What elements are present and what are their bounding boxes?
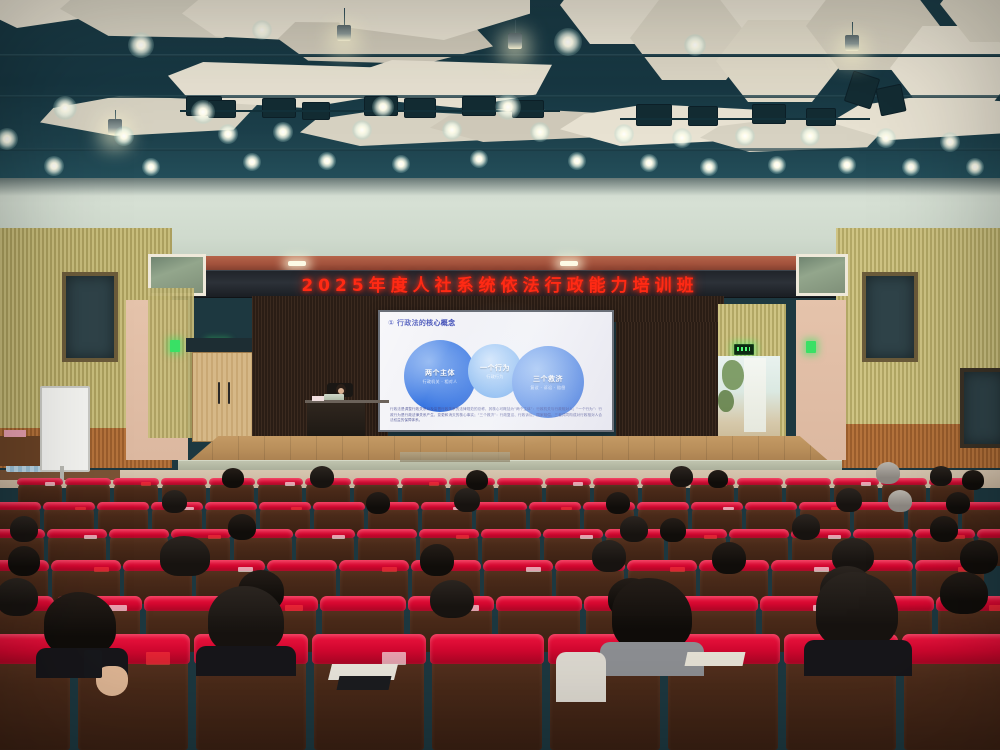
- ceiling: [0, 0, 1000, 185]
- exit-pictogram-left: [170, 340, 180, 352]
- ceiling-spotlight: [530, 122, 550, 142]
- attendee-head: [960, 540, 998, 574]
- left-door-header: [186, 338, 262, 352]
- lighting-truss-bar: [620, 118, 870, 120]
- ceiling-spotlight: [684, 34, 706, 56]
- whiteboard: [40, 386, 90, 472]
- ceiling-spotlight: [568, 152, 586, 170]
- attendee-head: [888, 490, 912, 512]
- ceiling-spotlight: [495, 94, 521, 120]
- stage-light-fixture: [688, 106, 718, 126]
- exit-sign-right-stage: [734, 344, 754, 355]
- ceiling-spotlight: [252, 20, 272, 40]
- cornice-downlight: [560, 261, 578, 266]
- attendee-head: [708, 470, 728, 488]
- attendee-head: [940, 572, 988, 614]
- ceiling-spotlight: [838, 156, 856, 174]
- lectern-paper: [312, 396, 324, 401]
- left-acoustic-panel: [62, 272, 118, 362]
- attendee-head: [876, 462, 900, 484]
- projection-screen: ① 行政法的核心概念 两个主体 行政机关 · 相对人 一个行为 行政行为 三个救…: [378, 310, 614, 432]
- ceiling-spotlight: [940, 132, 960, 152]
- ceiling-spotlight: [902, 158, 920, 176]
- doorway-daylight-pane: [744, 358, 766, 432]
- attendee-head: [670, 466, 693, 487]
- ceiling-spotlight: [614, 124, 634, 144]
- attendee-laptop: [337, 676, 392, 690]
- attendee-head: [466, 470, 488, 490]
- right-dark-recess: [960, 368, 1000, 448]
- attendee-body: [804, 640, 912, 676]
- attendee-body: [556, 652, 606, 702]
- ceiling-spotlight: [372, 96, 394, 118]
- ceiling-spotlight: [442, 120, 462, 140]
- ceiling-spotlight: [128, 32, 154, 58]
- ceiling-spotlight: [53, 96, 77, 120]
- attendee-head: [792, 514, 820, 540]
- folding-desk-surface: [685, 652, 746, 666]
- auditorium-photo: 2025年度人社系统依法行政能力培训班 ① 行政法的核心概念 两个主体 行政机关…: [0, 0, 1000, 750]
- stage-light-fixture: [636, 104, 672, 126]
- attendee-head: [44, 592, 116, 656]
- ceiling-spotlight: [318, 152, 336, 170]
- attendee-head: [366, 492, 390, 514]
- stage-light-fixture: [462, 96, 496, 116]
- attendee-head: [660, 518, 686, 542]
- ceiling-spotlight: [0, 128, 18, 150]
- seat[interactable]: [904, 650, 1000, 750]
- ceiling-spotlight: [470, 150, 488, 168]
- attendee-body: [196, 646, 296, 676]
- ceiling-spotlight: [352, 120, 372, 140]
- attendee-head: [592, 540, 626, 572]
- ceiling-spotlight: [700, 158, 718, 176]
- ceiling-beam: [0, 148, 1000, 151]
- attendee-head: [222, 468, 244, 488]
- attendee-head: [0, 578, 38, 616]
- lectern: [307, 402, 365, 436]
- ceiling-spotlight: [142, 158, 160, 176]
- ceiling-spotlight: [114, 126, 134, 146]
- ceiling-spotlight: [554, 28, 582, 56]
- seat[interactable]: [432, 650, 542, 750]
- ceiling-spotlight: [768, 156, 786, 174]
- ceiling-spotlight: [800, 126, 820, 146]
- attendee-head: [8, 546, 40, 576]
- ceiling-spotlight: [735, 126, 755, 146]
- attendee-head: [836, 488, 862, 512]
- left-exit-door[interactable]: [192, 352, 256, 442]
- cornice-downlight: [288, 261, 306, 266]
- ceiling-spotlight: [392, 155, 410, 173]
- ceiling-beam: [0, 54, 1000, 57]
- stage-light-fixture: [875, 84, 906, 117]
- attendee-head: [946, 492, 970, 514]
- left-door-handle[interactable]: [218, 382, 220, 404]
- stage-light-fixture: [262, 98, 296, 118]
- attendee-head: [430, 580, 474, 618]
- attendee-head: [10, 516, 38, 542]
- ceiling-spotlight: [273, 122, 293, 142]
- attendee-head: [420, 544, 454, 576]
- ceiling-spotlight: [876, 128, 896, 148]
- stage-light-fixture: [752, 104, 786, 124]
- right-acoustic-panel: [862, 272, 918, 362]
- ceiling-spotlight: [191, 100, 215, 124]
- attendee-head: [208, 586, 284, 654]
- ceiling-spotlight: [966, 158, 984, 176]
- attendee-head: [228, 514, 256, 540]
- foliage-through-doorway: [722, 360, 744, 390]
- attendee-head: [160, 536, 210, 576]
- attendee-head: [962, 470, 984, 490]
- attendee-head: [310, 466, 334, 488]
- attendee-head: [930, 516, 958, 542]
- attendee-head: [712, 542, 746, 574]
- attendee-head: [620, 516, 648, 542]
- right-return-wall: [796, 300, 846, 460]
- upper-wall-shadow: [0, 178, 1000, 196]
- ceiling-spotlight: [243, 153, 261, 171]
- attendee-head: [606, 492, 630, 514]
- ceiling-spotlight: [640, 154, 658, 172]
- attendee-phone: [84, 650, 102, 678]
- wall-cabinet-left: [0, 436, 40, 466]
- ceiling-spotlight: [672, 128, 692, 148]
- left-door-handle[interactable]: [228, 382, 230, 404]
- left-inner-slat-wall: [148, 288, 194, 438]
- right-clerestory-window: [796, 254, 848, 296]
- attendee-head: [930, 466, 952, 486]
- stage-step: [400, 452, 510, 462]
- stage-light-fixture: [404, 98, 436, 118]
- attendee-head: [454, 488, 480, 512]
- wall-plaque-left: [4, 430, 26, 437]
- stage-light-fixture: [806, 108, 836, 126]
- foliage-through-doorway: [718, 390, 734, 412]
- ceiling-spotlight: [44, 156, 64, 176]
- exit-pictogram-right: [806, 341, 816, 353]
- ceiling-spotlight: [218, 124, 238, 144]
- attendee-head: [162, 490, 187, 513]
- screen-glare: [380, 312, 612, 430]
